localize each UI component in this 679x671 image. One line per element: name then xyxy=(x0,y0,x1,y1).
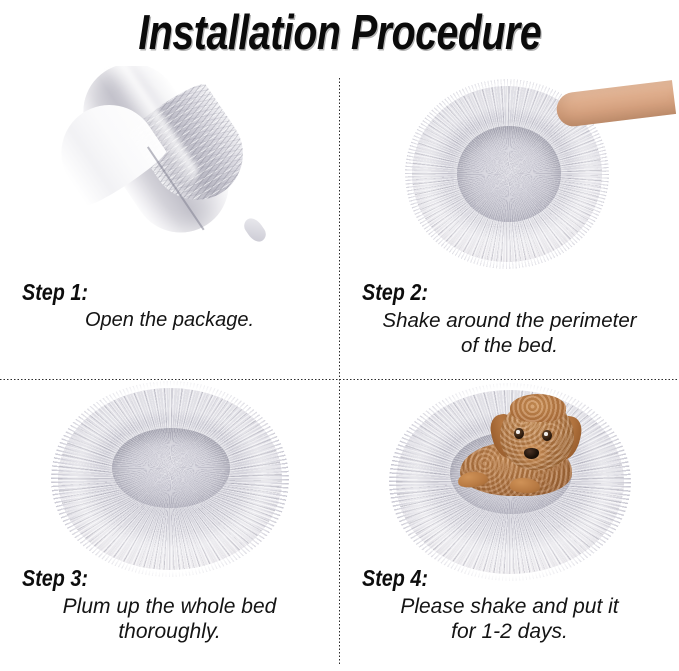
installation-procedure-infographic: Installation Procedure Step 1: Open the … xyxy=(0,0,679,671)
step-4-panel: Step 4: Please shake and put itfor 1-2 d… xyxy=(340,380,679,671)
step-3-panel: Step 3: Plum up the whole bedthoroughly. xyxy=(0,380,339,671)
rolled-bed-in-plastic-package-illustration xyxy=(28,72,288,272)
step-3-label: Step 3: xyxy=(22,566,295,591)
human-arm xyxy=(555,80,676,128)
round-pet-bed xyxy=(58,388,282,570)
step-2-body-line-2: of the bed. xyxy=(461,334,558,357)
step-1-image xyxy=(0,66,339,278)
step-2-panel: Step 2: Shake around the perimeterof the… xyxy=(340,66,679,379)
step-3-image xyxy=(0,380,339,565)
step-1-label: Step 1: xyxy=(22,280,295,305)
step-3-body-line-1: Plum up the whole bed xyxy=(63,595,277,618)
step-4-body-line-1: Please shake and put it xyxy=(400,595,618,618)
bed-inner-cushion xyxy=(112,428,230,508)
step-3-body-line-2: thoroughly. xyxy=(118,620,220,643)
step-4-label: Step 4: xyxy=(362,566,635,591)
step-1-panel: Step 1: Open the package. xyxy=(0,66,339,379)
bed-inner-cushion xyxy=(457,126,561,222)
step-4-body: Please shake and put itfor 1-2 days. xyxy=(340,594,679,644)
step-4-caption: Step 4: Please shake and put itfor 1-2 d… xyxy=(340,566,679,644)
step-2-caption: Step 2: Shake around the perimeterof the… xyxy=(340,280,679,358)
step-3-body: Plum up the whole bedthoroughly. xyxy=(0,594,339,644)
step-4-image xyxy=(340,380,679,565)
package-twist-end xyxy=(241,215,269,246)
step-2-body: Shake around the perimeterof the bed. xyxy=(340,308,679,358)
page-title: Installation Procedure xyxy=(138,8,541,58)
step-1-caption: Step 1: Open the package. xyxy=(0,280,339,333)
step-2-image xyxy=(340,66,679,278)
step-2-label: Step 2: xyxy=(362,280,635,305)
puppy-topknot xyxy=(510,394,566,422)
page-title-bar: Installation Procedure xyxy=(0,0,679,66)
puppy-eye-right xyxy=(542,430,552,441)
step-3-caption: Step 3: Plum up the whole bedthoroughly. xyxy=(0,566,339,644)
step-1-body: Open the package. xyxy=(0,308,339,333)
step-2-body-line-1: Shake around the perimeter xyxy=(382,309,636,332)
puppy-eye-left xyxy=(514,428,524,439)
step-4-body-line-2: for 1-2 days. xyxy=(451,620,568,643)
poodle-puppy xyxy=(458,396,582,502)
